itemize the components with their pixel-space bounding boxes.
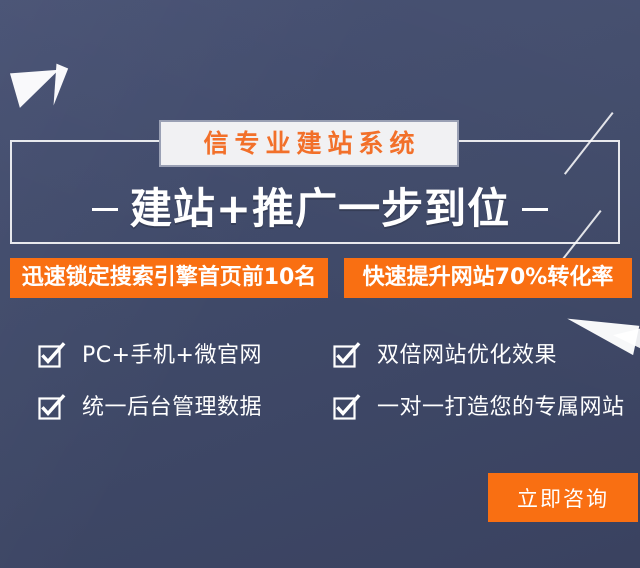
headline-dash-right xyxy=(522,208,548,211)
feature-item-4-label: 一对一打造您的专属网站 xyxy=(377,397,625,419)
headline-dash-left xyxy=(92,208,118,211)
paper-plane-icon-top-left-a xyxy=(10,60,66,108)
feature-item-4: 一对一打造您的专属网站 xyxy=(320,382,640,434)
highlight-strip-1: 迅速锁定搜索引擎首页前10名 xyxy=(10,258,328,298)
highlight-strip-2-text: 快速提升网站70%转化率 xyxy=(363,267,614,289)
feature-item-1: PC+手机+微官网 xyxy=(0,330,320,382)
highlight-strip-2: 快速提升网站70%转化率 xyxy=(344,258,632,298)
feature-item-1-label: PC+手机+微官网 xyxy=(82,345,262,367)
feature-item-3: 统一后台管理数据 xyxy=(0,382,320,434)
title-plate-text: 信专业建站系统 xyxy=(197,131,420,156)
checkbox-checked-icon xyxy=(333,395,359,421)
consult-now-button[interactable]: 立即咨询 xyxy=(488,473,638,522)
paper-plane-icon-top-left-b xyxy=(54,64,69,107)
headline: 建站+推广一步到位 xyxy=(0,180,640,238)
headline-text: 建站+推广一步到位 xyxy=(130,188,510,230)
feature-list: PC+手机+微官网 双倍网站优化效果 xyxy=(0,330,640,434)
checkbox-checked-icon xyxy=(333,343,359,369)
promo-banner: 信专业建站系统 建站+推广一步到位 迅速锁定搜索引擎首页前10名 快速提升网站7… xyxy=(0,0,640,568)
feature-row: PC+手机+微官网 双倍网站优化效果 xyxy=(0,330,640,382)
feature-item-3-label: 统一后台管理数据 xyxy=(82,397,262,419)
feature-row: 统一后台管理数据 一对一打造您的专属网站 xyxy=(0,382,640,434)
checkbox-checked-icon xyxy=(38,395,64,421)
feature-item-2-label: 双倍网站优化效果 xyxy=(377,345,557,367)
checkbox-checked-icon xyxy=(38,343,64,369)
highlight-strip-1-text: 迅速锁定搜索引擎首页前10名 xyxy=(22,267,317,289)
feature-item-2: 双倍网站优化效果 xyxy=(320,330,640,382)
highlight-strips: 迅速锁定搜索引擎首页前10名 快速提升网站70%转化率 xyxy=(0,258,640,298)
title-plate: 信专业建站系统 xyxy=(159,120,459,167)
